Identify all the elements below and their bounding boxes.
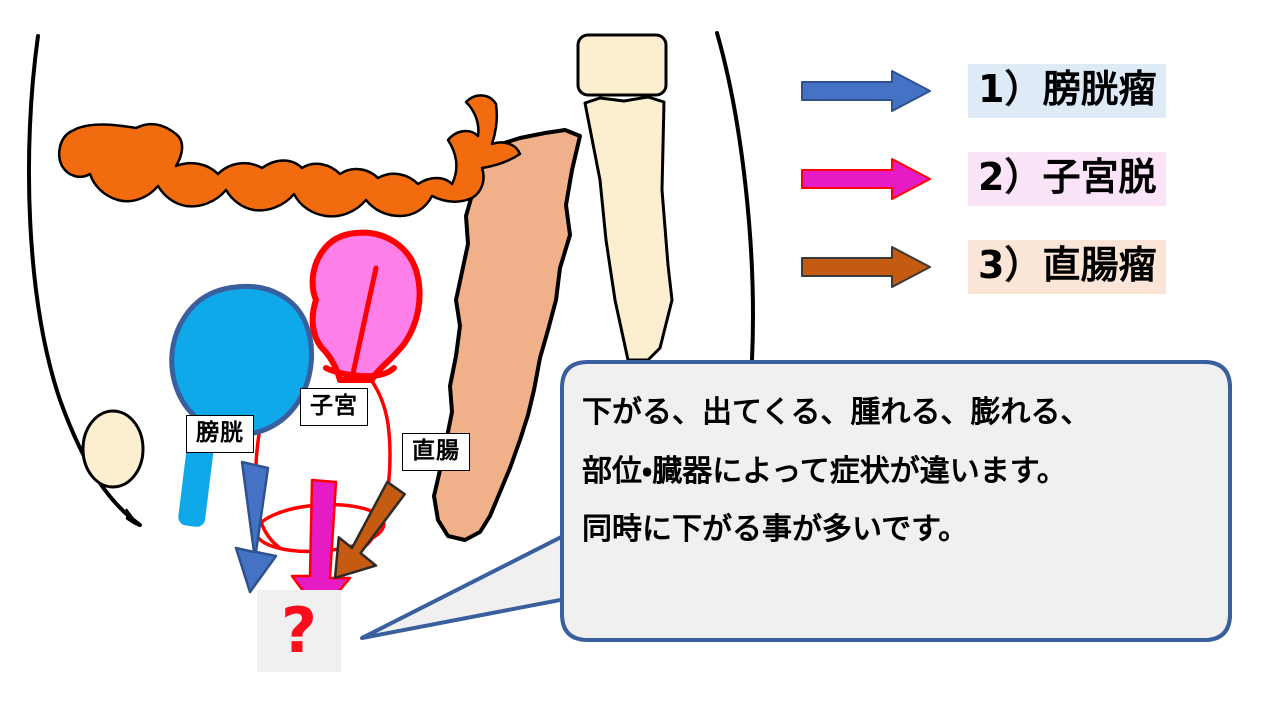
legend-item-rectocele[interactable]: 3）直腸瘤 — [800, 238, 1230, 296]
legend-label-uterine-prolapse: 2）子宮脱 — [968, 152, 1166, 206]
pubic-bone-shape — [83, 411, 143, 487]
legend-arrow-brown-icon — [800, 245, 932, 289]
vertebra-block — [578, 35, 666, 95]
organ-label-uterus: 子宮 — [300, 388, 368, 426]
question-mark-glyph: ? — [281, 600, 317, 662]
rectal-prolapse-arrow — [326, 480, 413, 578]
speech-bubble-text: 下がる、出てくる、腫れる、膨れる、 部位・臓器によって症状が違います。 同時に下… — [582, 384, 1212, 560]
body-outline-left-hook-path — [126, 509, 140, 526]
legend-item-cystocele[interactable]: 1）膀胱瘤 — [800, 62, 1230, 120]
legend-arrow-blue-icon — [800, 69, 932, 113]
body-outline-right-path — [717, 33, 753, 360]
sacrum-shape — [585, 97, 672, 360]
speech-bubble-line-3: 同時に下がる事が多いです。 — [582, 501, 1212, 560]
organ-label-bladder: 膀胱 — [186, 415, 254, 453]
legend: 1）膀胱瘤 2）子宮脱 3）直腸瘤 — [800, 62, 1230, 326]
bladder-shape — [172, 286, 312, 434]
legend-label-cystocele: 1）膀胱瘤 — [968, 64, 1166, 118]
question-mark-box: ? — [257, 590, 341, 672]
speech-bubble-line-2: 部位・臓器によって症状が違います。 — [582, 443, 1212, 502]
legend-item-uterine-prolapse[interactable]: 2）子宮脱 — [800, 150, 1230, 208]
diagram-canvas: 膀胱 子宮 直腸 ? 1）膀胱瘤 2）子宮脱 3）直腸瘤 — [0, 0, 1280, 720]
legend-label-rectocele: 3）直腸瘤 — [968, 240, 1166, 294]
organ-label-rectum: 直腸 — [402, 433, 470, 471]
speech-bubble-line-1: 下がる、出てくる、腫れる、膨れる、 — [582, 384, 1212, 443]
bladder-prolapse-arrow — [236, 462, 276, 592]
legend-arrow-magenta-icon — [800, 157, 932, 201]
intestine-shape — [59, 95, 520, 216]
speech-bubble: 下がる、出てくる、腫れる、膨れる、 部位・臓器によって症状が違います。 同時に下… — [560, 360, 1232, 642]
